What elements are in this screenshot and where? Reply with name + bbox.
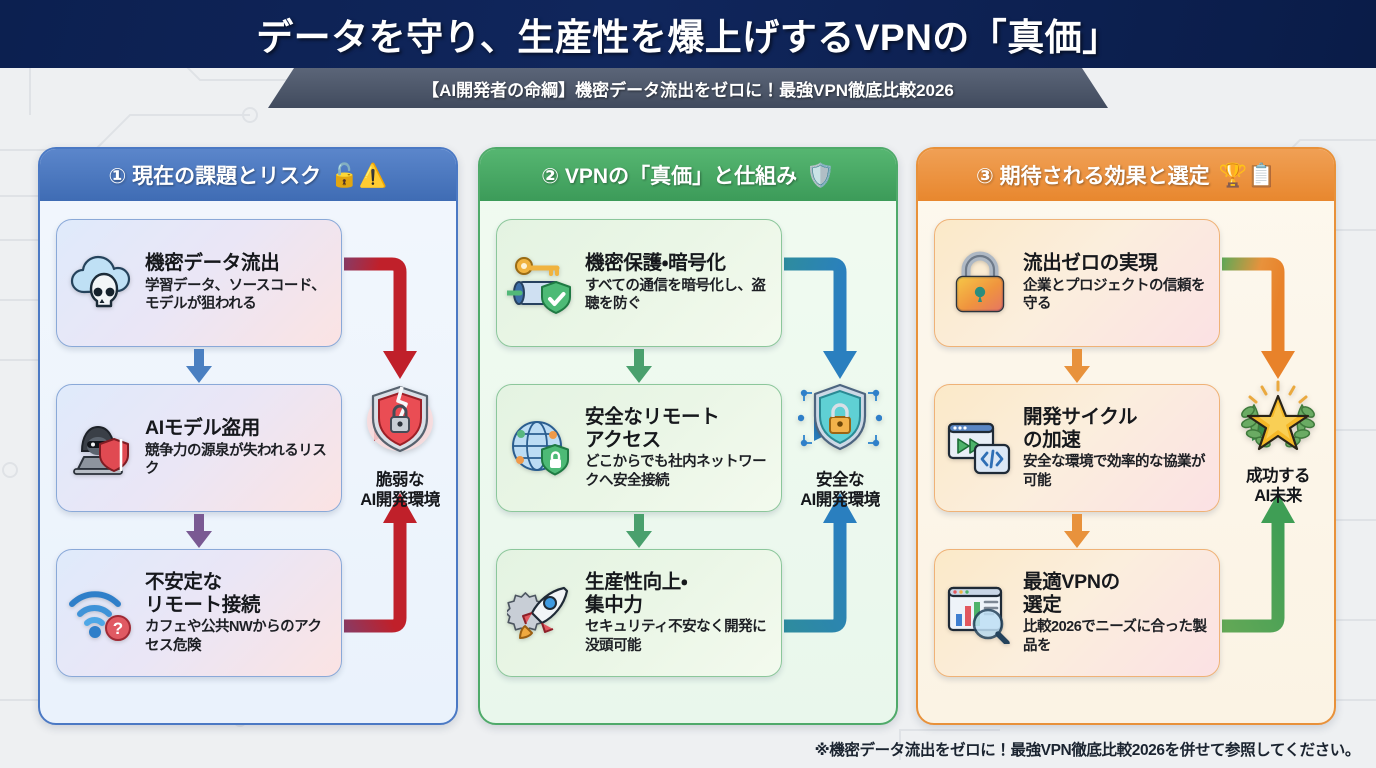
panel-header-risks: ① 現在の課題とリスク 🔓⚠️ — [40, 149, 456, 201]
card-title: 開発サイクル の加速 — [1023, 406, 1209, 451]
card-description: 安全な環境で効率的な協業が可能 — [1023, 453, 1209, 490]
card-description: 比較2026でニーズに合った製品を — [1023, 618, 1209, 655]
hacker-laptop-icon — [65, 411, 139, 485]
down-arrow-1 — [1064, 349, 1090, 383]
panel-title: ① 現在の課題とリスク — [109, 160, 322, 190]
unlocked-warning-icon: 🔓⚠️ — [330, 164, 387, 187]
card-risk-2[interactable]: AIモデル盗用 競争力の源泉が失われるリスク — [56, 384, 342, 512]
cloud-skull-icon — [65, 246, 139, 320]
down-arrow-2 — [626, 514, 652, 548]
card-text: 最適VPNの 選定 比較2026でニーズに合った製品を — [1023, 571, 1209, 655]
shield-lock-icon: 🛡️ — [806, 164, 835, 187]
card-title: AIモデル盗用 — [145, 417, 331, 440]
outcome-vpn-value: 安全な AI開発環境 — [782, 379, 898, 511]
card-title: 不安定な リモート接続 — [145, 571, 331, 616]
card-description: 企業とプロジェクトの信頼を守る — [1023, 277, 1209, 314]
chart-magnifier-icon — [943, 576, 1017, 650]
globe-shield-icon — [505, 411, 579, 485]
card-value-2[interactable]: 安全なリモート アクセス どこからでも社内ネットワークへ安全接続 — [496, 384, 782, 512]
broken-shield-lock-icon — [361, 379, 439, 466]
trophy-checklist-icon: 🏆📋 — [1219, 164, 1276, 187]
card-description: セキュリティ不安なく開発に没頭可能 — [585, 618, 771, 655]
card-title: 最適VPNの 選定 — [1023, 571, 1209, 616]
card-risk-3[interactable]: ? 不安定な リモート接続 カフェや公共NWからのアクセス危険 — [56, 549, 342, 677]
card-title: 機密保護・暗号化 — [585, 252, 771, 275]
panel-title: ③ 期待される効果と選定 — [976, 160, 1210, 190]
card-text: AIモデル盗用 競争力の源泉が失われるリスク — [145, 417, 331, 478]
card-description: 競争力の源泉が失われるリスク — [145, 442, 331, 479]
padlock-icon — [943, 246, 1017, 320]
card-text: 開発サイクル の加速 安全な環境で効率的な協業が可能 — [1023, 406, 1209, 490]
outcome-effects: 成功する AI未来 — [1220, 379, 1336, 507]
down-arrow-2 — [1064, 514, 1090, 548]
wifi-question-icon: ? — [65, 576, 139, 650]
card-effect-1[interactable]: 流出ゼロの実現 企業とプロジェクトの信頼を守る — [934, 219, 1220, 347]
down-arrow-1 — [186, 349, 212, 383]
key-tunnel-shield-icon — [505, 246, 579, 320]
outcome-risks: 脆弱な AI開発環境 — [342, 379, 458, 511]
card-value-3[interactable]: 生産性向上・ 集中力 セキュリティ不安なく開発に没頭可能 — [496, 549, 782, 677]
subtitle-ribbon: 【AI開発者の命綱】機密データ流出をゼロに！最強VPN徹底比較2026 — [268, 68, 1108, 108]
laurel-star-icon — [1234, 379, 1322, 462]
down-arrow-2 — [186, 514, 212, 548]
panel-body: 機密データ流出 学習データ、ソースコード、モデルが狙われる — [40, 201, 456, 723]
card-title: 機密データ流出 — [145, 252, 331, 275]
card-description: すべての通信を暗号化し、盗聴を防ぐ — [585, 277, 771, 314]
secure-shield-lock-icon — [798, 379, 882, 466]
card-text: 機密保護・暗号化 すべての通信を暗号化し、盗聴を防ぐ — [585, 252, 771, 313]
card-description: 学習データ、ソースコード、モデルが狙われる — [145, 277, 331, 314]
infographic-canvas: データを守り、生産性を爆上げするVPNの「真価」 【AI開発者の命綱】機密データ… — [0, 0, 1376, 768]
fast-forward-code-icon — [943, 411, 1017, 485]
card-effect-2[interactable]: 開発サイクル の加速 安全な環境で効率的な協業が可能 — [934, 384, 1220, 512]
card-value-1[interactable]: 機密保護・暗号化 すべての通信を暗号化し、盗聴を防ぐ — [496, 219, 782, 347]
card-text: 機密データ流出 学習データ、ソースコード、モデルが狙われる — [145, 252, 331, 313]
panel-title: ② VPNの「真価」と仕組み — [541, 160, 797, 190]
card-description: カフェや公共NWからのアクセス危険 — [145, 618, 331, 655]
card-text: 不安定な リモート接続 カフェや公共NWからのアクセス危険 — [145, 571, 331, 655]
card-effect-3[interactable]: 最適VPNの 選定 比較2026でニーズに合った製品を — [934, 549, 1220, 677]
header-bar: データを守り、生産性を爆上げするVPNの「真価」 — [0, 0, 1376, 68]
page-title: データを守り、生産性を爆上げするVPNの「真価」 — [256, 7, 1120, 61]
column-panel-effects: ③ 期待される効果と選定 🏆📋 — [916, 147, 1336, 725]
card-title: 流出ゼロの実現 — [1023, 252, 1209, 275]
rocket-gear-icon — [505, 576, 579, 650]
card-title: 安全なリモート アクセス — [585, 406, 771, 451]
outcome-label: 安全な AI開発環境 — [800, 471, 880, 511]
column-panel-risks: ① 現在の課題とリスク 🔓⚠️ — [38, 147, 458, 725]
card-text: 流出ゼロの実現 企業とプロジェクトの信頼を守る — [1023, 252, 1209, 313]
card-description: どこからでも社内ネットワークへ安全接続 — [585, 453, 771, 490]
panel-header-effects: ③ 期待される効果と選定 🏆📋 — [918, 149, 1334, 201]
outcome-label: 成功する AI未来 — [1246, 467, 1310, 507]
card-text: 生産性向上・ 集中力 セキュリティ不安なく開発に没頭可能 — [585, 571, 771, 655]
svg-text:?: ? — [113, 619, 123, 638]
panel-body: 流出ゼロの実現 企業とプロジェクトの信頼を守る — [918, 201, 1334, 723]
card-risk-1[interactable]: 機密データ流出 学習データ、ソースコード、モデルが狙われる — [56, 219, 342, 347]
card-text: 安全なリモート アクセス どこからでも社内ネットワークへ安全接続 — [585, 406, 771, 490]
footer-note: ※機密データ流出をゼロに！最強VPN徹底比較2026を併せて参照してください。 — [815, 738, 1360, 760]
page-subtitle: 【AI開発者の命綱】機密データ流出をゼロに！最強VPN徹底比較2026 — [422, 76, 954, 101]
outcome-label: 脆弱な AI開発環境 — [360, 471, 440, 511]
panel-body: 機密保護・暗号化 すべての通信を暗号化し、盗聴を防ぐ — [480, 201, 896, 723]
column-panel-vpn-value: ② VPNの「真価」と仕組み 🛡️ — [478, 147, 898, 725]
down-arrow-1 — [626, 349, 652, 383]
card-title: 生産性向上・ 集中力 — [585, 571, 771, 616]
panel-header-vpn-value: ② VPNの「真価」と仕組み 🛡️ — [480, 149, 896, 201]
